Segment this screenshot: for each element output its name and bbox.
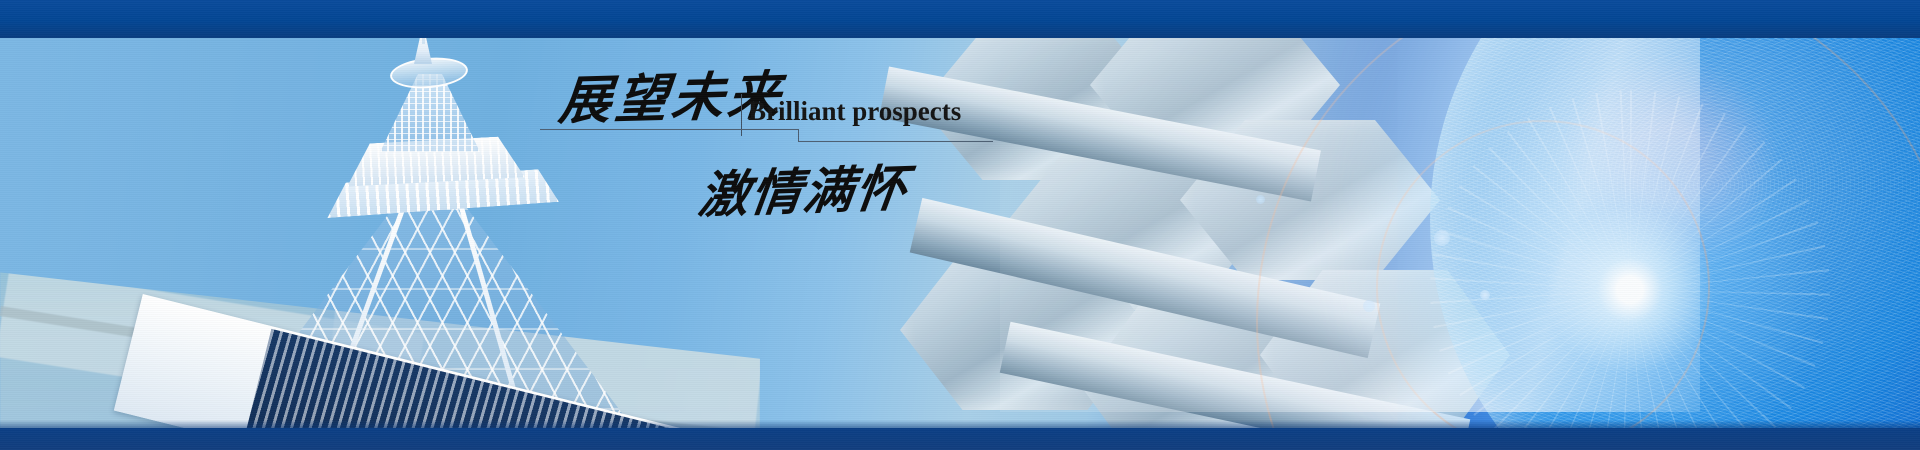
headline-block: 展望未来 Brilliant prospects 激情满怀 (540, 56, 1010, 216)
flare-dot-1 (1434, 230, 1450, 246)
headline-rule-right (798, 141, 993, 142)
headline-chinese-secondary: 激情满怀 (695, 148, 913, 227)
flare-dot-3 (1363, 300, 1375, 312)
flare-dot-4 (1256, 195, 1265, 204)
top-band (0, 0, 1920, 38)
bottom-band (0, 428, 1920, 450)
banner-hero: 展望未来 Brilliant prospects 激情满怀 (0, 0, 1920, 450)
headline-rule-left (540, 129, 798, 130)
flare-dot-2 (1480, 290, 1490, 300)
flare-ring-small (1376, 120, 1710, 450)
bottom-band-glow (0, 420, 1920, 428)
headline-english: Brilliant prospects (748, 96, 961, 127)
